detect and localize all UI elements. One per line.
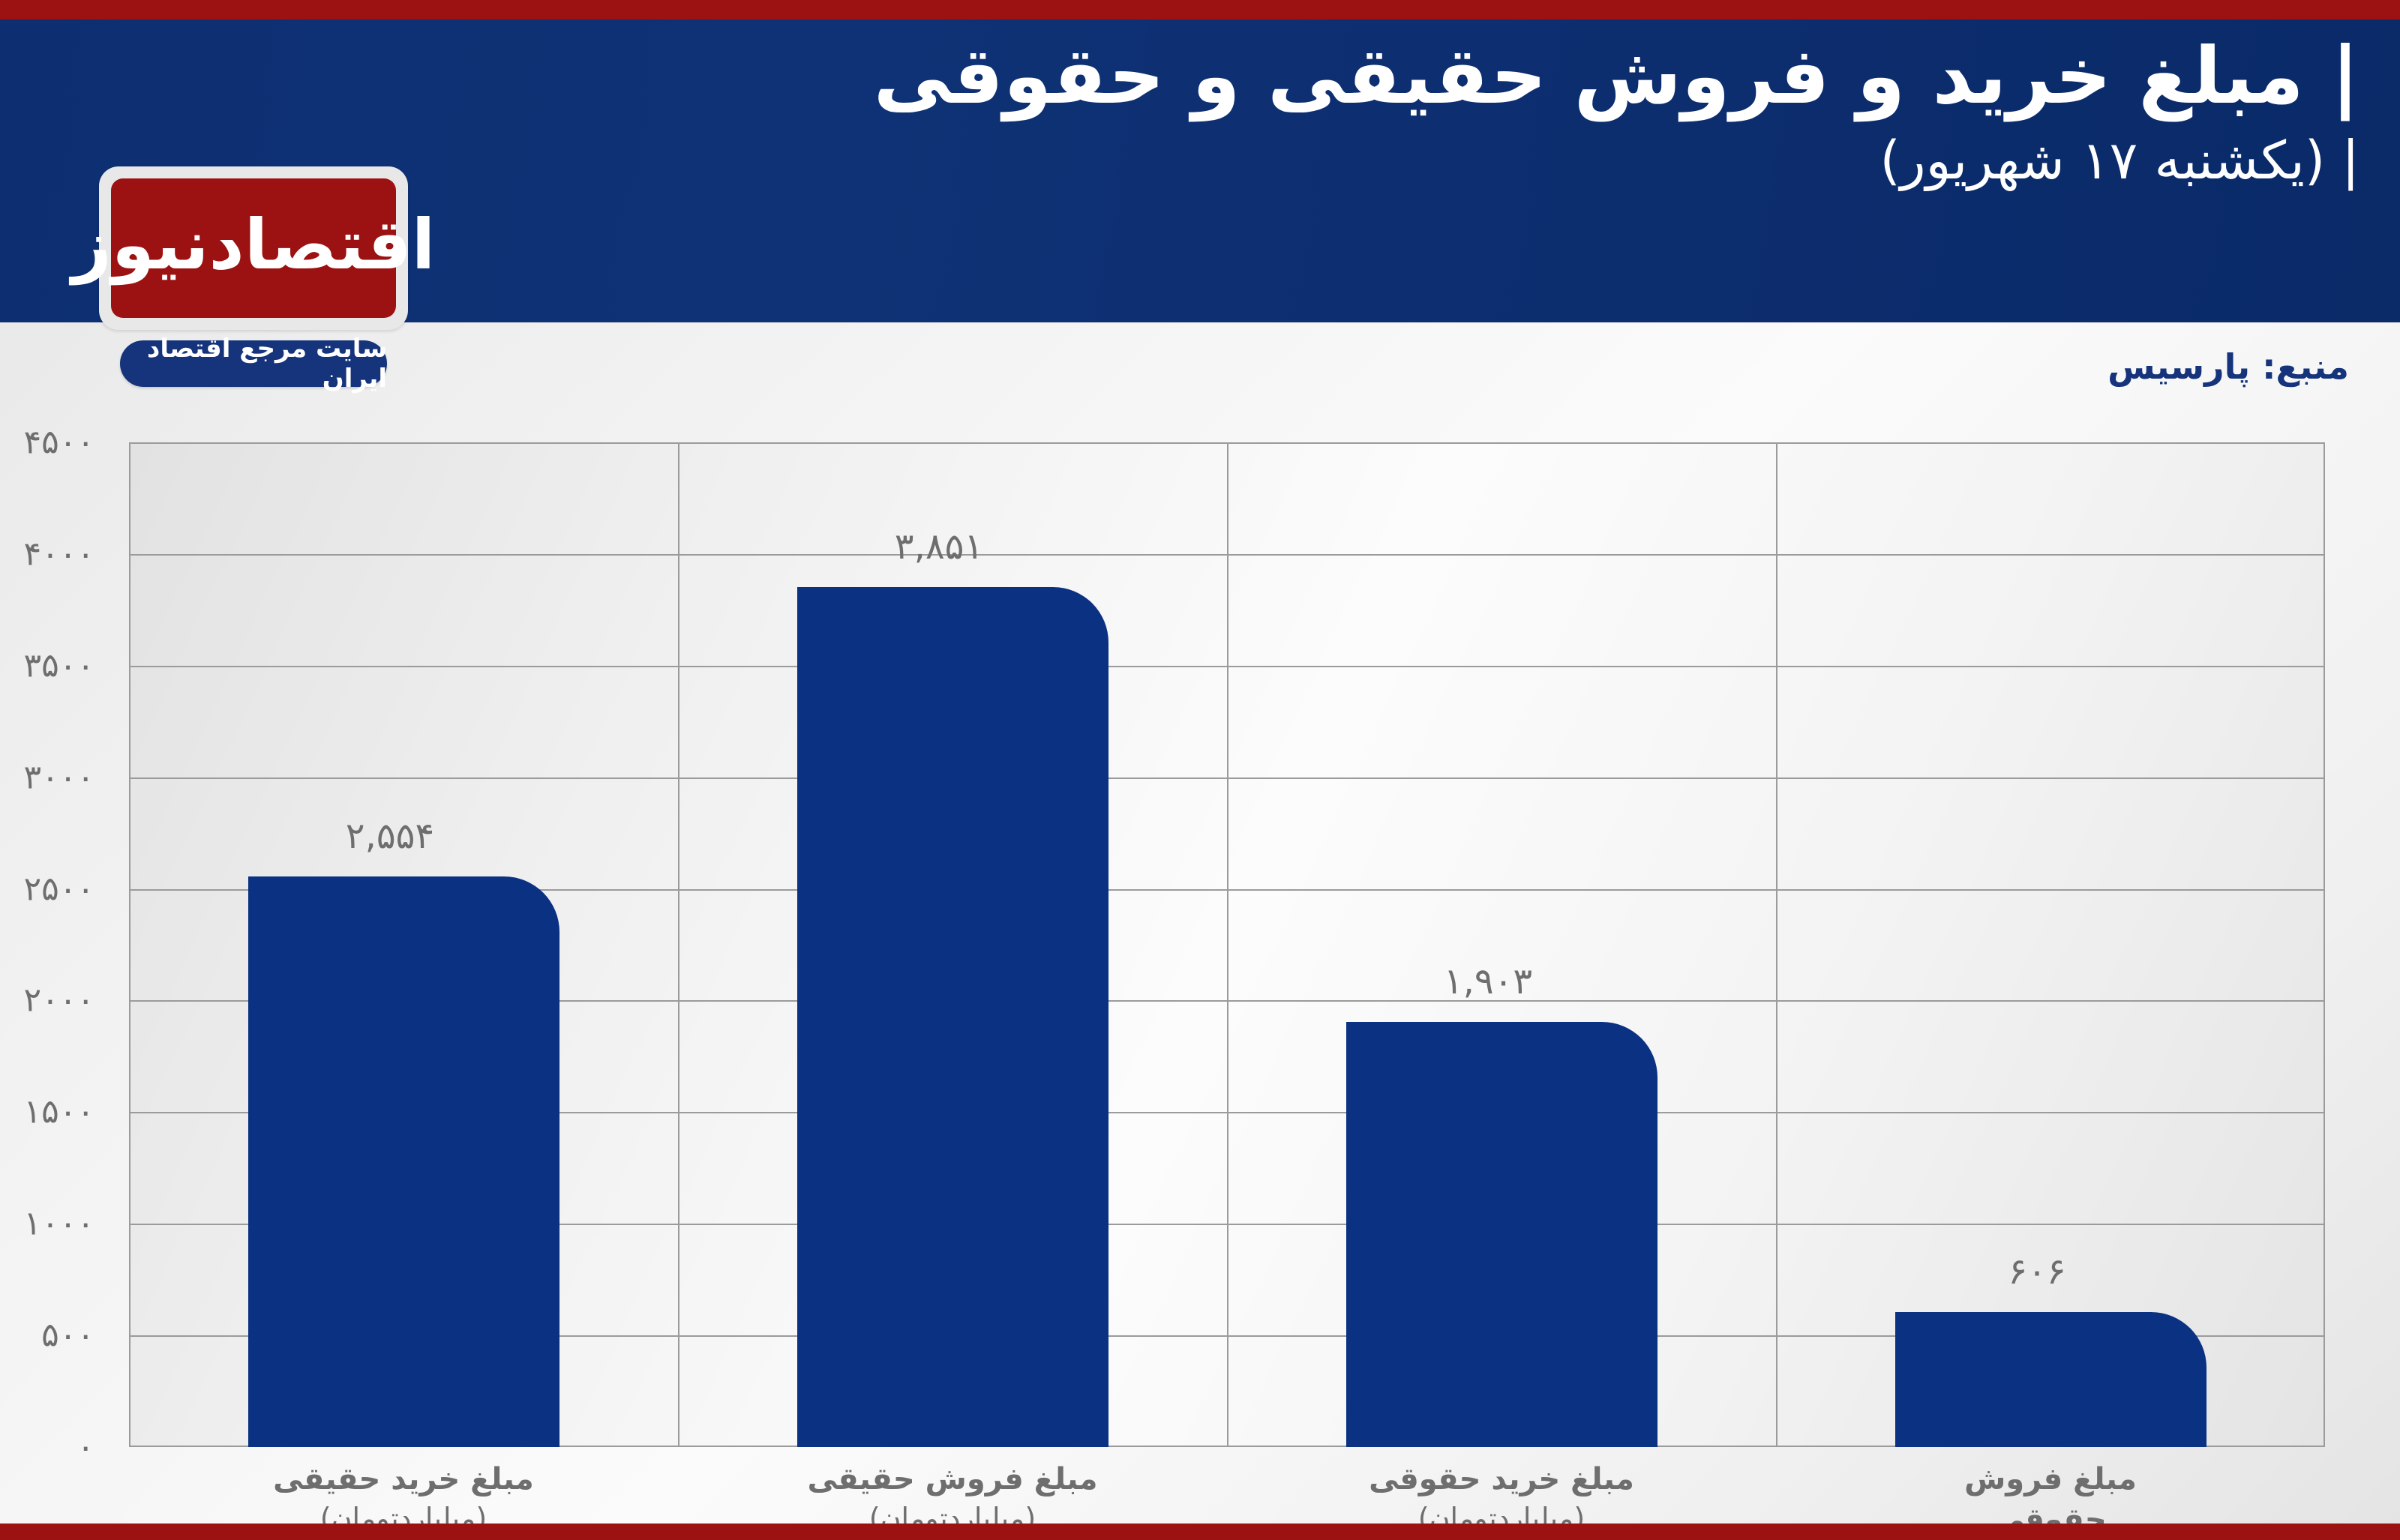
y-tick-label: ۱۰۰۰ — [0, 1205, 111, 1243]
y-tick-text: ۲۵۰۰ — [0, 870, 111, 908]
y-tick-label: ۲۰۰۰ — [0, 981, 111, 1020]
y-tick-label: ۵۰۰ — [0, 1317, 111, 1355]
bar-value-label: ۶۰۶ — [2008, 1251, 2065, 1293]
top-red-rule — [0, 0, 2400, 19]
logo-frame: اقتصادنیوز — [99, 166, 408, 330]
logo-wordmark: اقتصادنیوز — [72, 211, 435, 280]
gridline-vertical — [1227, 442, 1228, 1447]
bar[interactable] — [1346, 1022, 1657, 1447]
y-tick-text: ۱۰۰۰ — [0, 1205, 111, 1243]
gridline-vertical — [1776, 442, 1777, 1447]
bar[interactable] — [797, 587, 1108, 1447]
title-block: | مبلغ خرید و فروش حقیقی و حقوقی | (یکشن… — [874, 28, 2359, 193]
bar-chart: ۲,۵۵۴۳,۸۵۱۱,۹۰۳۶۰۶ ۰۵۰۰۱۰۰۰۱۵۰۰۲۰۰۰۲۵۰۰۳… — [0, 420, 2400, 1507]
bar[interactable] — [1895, 1312, 2206, 1447]
y-tick-label: ۲۵۰۰ — [0, 870, 111, 908]
bar-value-label: ۲,۵۵۴ — [346, 815, 434, 857]
y-tick-text: ۴۰۰۰ — [0, 535, 111, 573]
x-axis-category-name: مبلغ فروش حقیقی — [808, 1462, 1098, 1497]
y-tick-label: ۴۵۰۰ — [0, 424, 111, 462]
y-tick-text: ۲۰۰۰ — [0, 981, 111, 1020]
x-axis-category-name: مبلغ خرید حقوقی — [1369, 1462, 1634, 1497]
logo-tagline-text: سایت مرجع اقتصاد ایران — [120, 334, 387, 394]
y-tick-text: ۱۵۰۰ — [0, 1093, 111, 1131]
y-tick-label: ۳۵۰۰ — [0, 646, 111, 685]
infographic-page: | مبلغ خرید و فروش حقیقی و حقوقی | (یکشن… — [0, 0, 2400, 1540]
page-title: | مبلغ خرید و فروش حقیقی و حقوقی — [874, 28, 2359, 124]
logo-plate: اقتصادنیوز — [111, 178, 396, 318]
plot-area: ۲,۵۵۴۳,۸۵۱۱,۹۰۳۶۰۶ — [129, 442, 2325, 1447]
x-axis-category-name: مبلغ خرید حقیقی — [273, 1462, 534, 1497]
y-tick-label: ۳۰۰۰ — [0, 758, 111, 796]
y-tick-label: ۱۵۰۰ — [0, 1093, 111, 1131]
bar-value-label: ۳,۸۵۱ — [895, 526, 983, 568]
bar-value-label: ۱,۹۰۳ — [1444, 960, 1532, 1002]
bar[interactable] — [248, 876, 559, 1447]
brand-logo[interactable]: اقتصادنیوز سایت مرجع اقتصاد ایران — [99, 166, 408, 387]
bottom-red-rule — [0, 1524, 2400, 1540]
gridline-vertical — [678, 442, 679, 1447]
y-tick-text: ۳۰۰۰ — [0, 758, 111, 796]
y-tick-text: ۴۵۰۰ — [0, 424, 111, 462]
y-tick-text: ۳۵۰۰ — [0, 646, 111, 685]
header-band: | مبلغ خرید و فروش حقیقی و حقوقی | (یکشن… — [0, 19, 2400, 322]
y-tick-label: ۰ — [0, 1428, 111, 1467]
y-tick-label: ۴۰۰۰ — [0, 535, 111, 573]
y-tick-text: ۵۰۰ — [0, 1317, 111, 1355]
y-tick-text: ۰ — [0, 1428, 111, 1467]
page-subtitle: | (یکشنبه ۱۷ شهریور) — [874, 128, 2359, 194]
logo-tagline-pill: سایت مرجع اقتصاد ایران — [120, 340, 387, 387]
source-label: منبع: پارسیس — [2107, 346, 2349, 387]
